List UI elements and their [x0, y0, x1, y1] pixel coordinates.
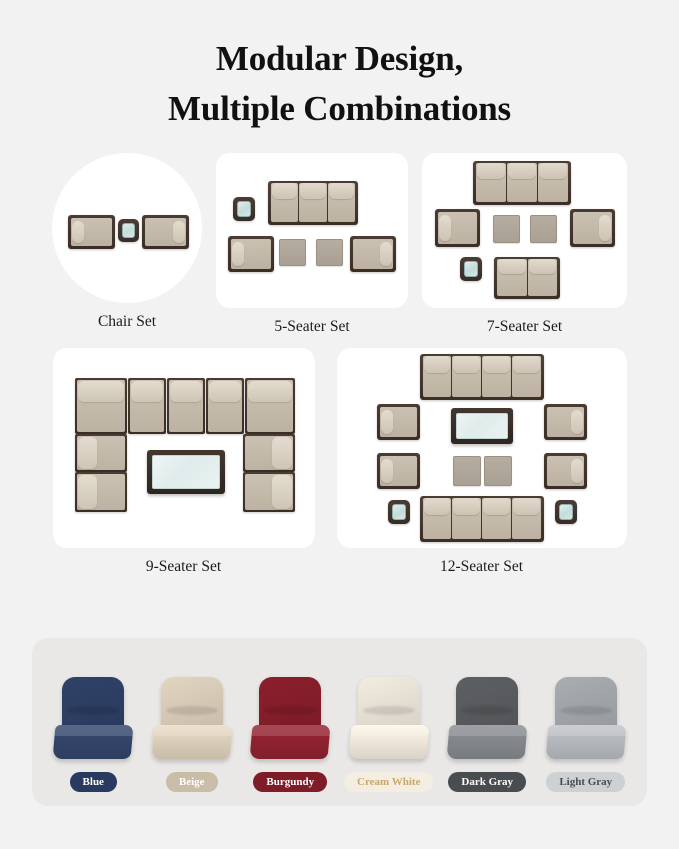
color-option-cream-white[interactable]: Cream White [341, 677, 437, 792]
set-9-seater-set[interactable]: 9-Seater Set [53, 348, 315, 576]
set-row-top: Chair Set [30, 153, 649, 336]
set-card-7-seater-set[interactable] [422, 153, 627, 308]
set-row-bottom: 9-Seater Set [30, 348, 649, 576]
color-label-beige[interactable]: Beige [166, 772, 218, 792]
color-label-dark-gray[interactable]: Dark Gray [448, 772, 526, 792]
side-table [388, 500, 410, 524]
set-label-5-seater-set: 5-Seater Set [274, 318, 349, 336]
armchair [544, 453, 587, 489]
layout-diagram-5-seater-set [216, 153, 408, 308]
layout-diagram-chair-set [52, 153, 202, 303]
side-table [555, 500, 577, 524]
armchair [142, 215, 189, 249]
color-label-light-gray[interactable]: Light Gray [546, 772, 625, 792]
set-chair-set[interactable]: Chair Set [52, 153, 202, 331]
color-option-burgundy[interactable]: Burgundy [242, 677, 338, 792]
set-card-chair-set[interactable] [52, 153, 202, 303]
cushion-seat [53, 725, 134, 759]
sectional-segment [75, 434, 127, 472]
side-table [233, 197, 255, 221]
layout-diagram-12-seater-set [337, 348, 627, 548]
color-options-panel: Blue Beige Burgundy Cream White [32, 638, 647, 806]
set-card-5-seater-set[interactable] [216, 153, 408, 308]
coffee-table [147, 450, 225, 494]
set-card-12-seater-set[interactable] [337, 348, 627, 548]
cushion-preview [547, 677, 625, 763]
sectional-segment [75, 472, 127, 512]
page-title: Modular Design, Multiple Combinations [0, 0, 679, 135]
ottoman [530, 215, 557, 243]
side-table [118, 219, 139, 242]
ottoman [493, 215, 520, 243]
cushion-seat [447, 725, 528, 759]
sectional-segment [243, 472, 295, 512]
color-label-blue[interactable]: Blue [70, 772, 117, 792]
ottoman [279, 239, 306, 266]
set-5-seater-set[interactable]: 5-Seater Set [216, 153, 408, 336]
set-label-12-seater-set: 12-Seater Set [440, 558, 523, 576]
page-title-line-2: Multiple Combinations [0, 84, 679, 134]
armchair [377, 404, 420, 440]
sofa-3-seat [268, 181, 358, 225]
armchair [570, 209, 615, 247]
color-option-dark-gray[interactable]: Dark Gray [439, 677, 535, 792]
armchair [228, 236, 274, 272]
color-option-beige[interactable]: Beige [144, 677, 240, 792]
color-label-cream-white[interactable]: Cream White [344, 772, 433, 792]
sofa-4-seat [420, 354, 544, 400]
page-title-line-1: Modular Design, [216, 39, 463, 78]
sectional-segment [206, 378, 244, 434]
color-label-burgundy[interactable]: Burgundy [253, 772, 327, 792]
cushion-preview [448, 677, 526, 763]
set-card-9-seater-set[interactable] [53, 348, 315, 548]
ottoman [484, 456, 512, 486]
sectional-segment [245, 378, 295, 434]
sectional-segment [167, 378, 205, 434]
armchair [544, 404, 587, 440]
sectional-segment [128, 378, 166, 434]
set-layout-grid: Chair Set [0, 153, 679, 576]
sofa-4-seat [420, 496, 544, 542]
cushion-seat [348, 725, 429, 759]
cushion-seat [250, 725, 331, 759]
infographic-page: Modular Design, Multiple Combinations [0, 0, 679, 849]
armchair [435, 209, 480, 247]
color-option-blue[interactable]: Blue [45, 677, 141, 792]
cushion-preview [153, 677, 231, 763]
sectional-segment [243, 434, 295, 472]
sofa-3-seat [473, 161, 571, 205]
set-label-9-seater-set: 9-Seater Set [146, 558, 221, 576]
sectional-segment [75, 378, 127, 434]
set-label-chair-set: Chair Set [98, 313, 156, 331]
set-7-seater-set[interactable]: 7-Seater Set [422, 153, 627, 336]
layout-diagram-7-seater-set [422, 153, 627, 308]
cushion-seat [151, 725, 232, 759]
armchair [350, 236, 396, 272]
ottoman [316, 239, 343, 266]
armchair [68, 215, 115, 249]
set-label-7-seater-set: 7-Seater Set [487, 318, 562, 336]
color-option-light-gray[interactable]: Light Gray [538, 677, 634, 792]
side-table [460, 257, 482, 281]
cushion-seat [545, 725, 626, 759]
cushion-preview [350, 677, 428, 763]
armchair [377, 453, 420, 489]
coffee-table [451, 408, 513, 444]
cushion-preview [54, 677, 132, 763]
cushion-preview [251, 677, 329, 763]
layout-diagram-9-seater-set [53, 348, 315, 548]
set-12-seater-set[interactable]: 12-Seater Set [337, 348, 627, 576]
ottoman [453, 456, 481, 486]
sofa-2-seat [494, 257, 560, 299]
